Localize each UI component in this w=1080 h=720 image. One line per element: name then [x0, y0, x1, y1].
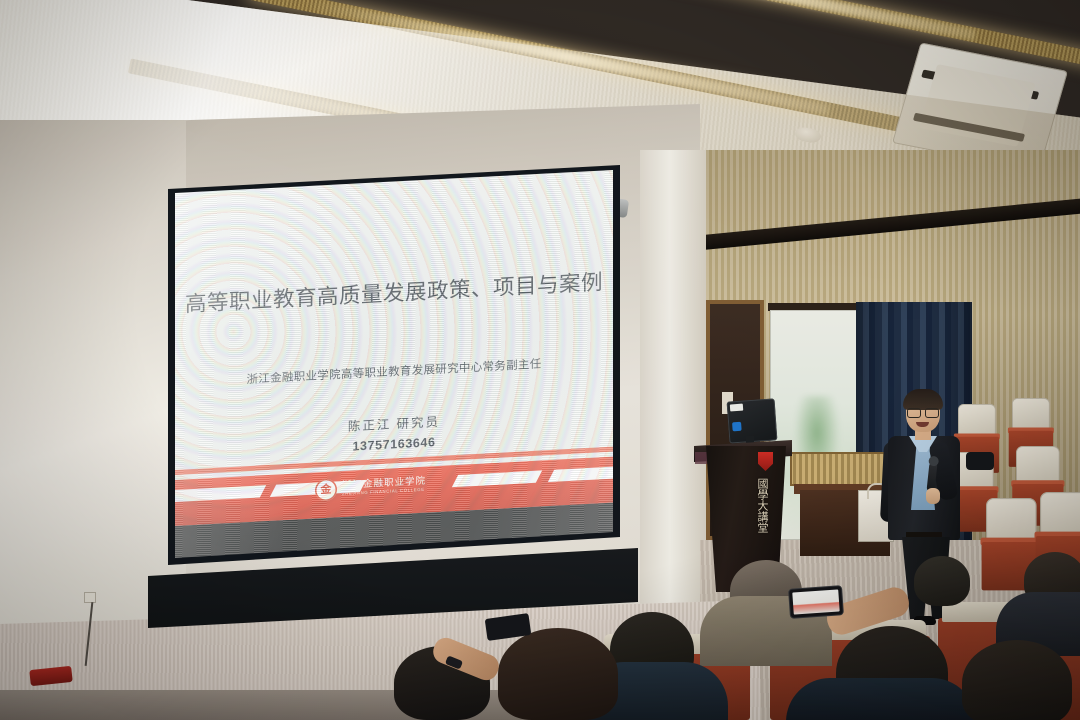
wall-pillar	[640, 150, 706, 620]
glasses-icon	[907, 408, 939, 416]
monitor-sticker	[732, 422, 742, 432]
presentation-screen[interactable]: 高等职业教育高质量发展政策、项目与案例 浙江金融职业学院高等职业教育发展研究中心…	[175, 170, 613, 558]
monitor-sticker	[730, 404, 743, 412]
podium-label: 國學大講堂	[753, 478, 769, 533]
audience-member	[786, 678, 976, 720]
handbag	[966, 452, 994, 470]
power-outlet	[84, 592, 96, 603]
left-wall	[0, 120, 186, 640]
lecture-hall-photo: 高等职业教育高质量发展政策、项目与案例 浙江金融职业学院高等职业教育发展研究中心…	[0, 0, 1080, 720]
audience-member	[914, 556, 970, 606]
smartphone-recording[interactable]	[789, 586, 843, 618]
audience-member	[498, 628, 618, 720]
audience-member	[962, 640, 1072, 720]
screen-scanlines	[175, 170, 613, 558]
room-shell: 高等职业教育高质量发展政策、项目与案例 浙江金融职业学院高等职业教育发展研究中心…	[0, 0, 1080, 720]
